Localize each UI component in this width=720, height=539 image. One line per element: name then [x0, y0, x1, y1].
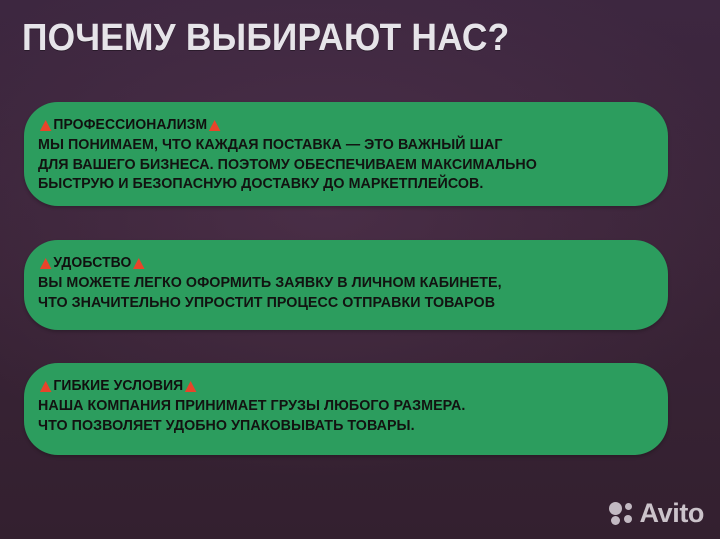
red-triangle-icon — [133, 258, 145, 269]
card-body-text: МЫ ПОНИМАЕМ, ЧТО КАЖДАЯ ПОСТАВКА — ЭТО В… — [38, 136, 632, 195]
red-triangle-icon — [40, 120, 52, 131]
red-triangle-icon — [40, 381, 52, 392]
avito-dots-icon — [609, 500, 636, 527]
page-title: ПОЧЕМУ ВЫБИРАЮТ НАС? — [22, 16, 654, 60]
benefit-card-professionalism: ПРОФЕССИОНАЛИЗМ МЫ ПОНИМАЕМ, ЧТО КАЖДАЯ … — [24, 102, 668, 206]
red-triangle-icon — [209, 120, 221, 131]
benefit-card-flexible-terms: ГИБКИЕ УСЛОВИЯ НАША КОМПАНИЯ ПРИНИМАЕТ Г… — [24, 363, 668, 455]
red-triangle-icon — [40, 258, 52, 269]
card-heading: ПРОФЕССИОНАЛИЗМ — [38, 116, 629, 134]
slide-canvas: ПОЧЕМУ ВЫБИРАЮТ НАС? ПРОФЕССИОНАЛИЗМ МЫ … — [0, 0, 720, 539]
card-heading: УДОБСТВО — [38, 254, 629, 272]
card-heading-label: ГИБКИЕ УСЛОВИЯ — [53, 377, 183, 395]
card-body-text: ВЫ МОЖЕТЕ ЛЕГКО ОФОРМИТЬ ЗАЯВКУ В ЛИЧНОМ… — [38, 274, 632, 313]
avito-wordmark: Avito — [640, 500, 705, 527]
avito-logo: Avito — [609, 500, 705, 527]
benefit-card-convenience: УДОБСТВО ВЫ МОЖЕТЕ ЛЕГКО ОФОРМИТЬ ЗАЯВКУ… — [24, 240, 668, 330]
card-body-text: НАША КОМПАНИЯ ПРИНИМАЕТ ГРУЗЫ ЛЮБОГО РАЗ… — [38, 397, 632, 436]
card-heading-label: УДОБСТВО — [53, 254, 131, 272]
card-heading-label: ПРОФЕССИОНАЛИЗМ — [53, 116, 207, 134]
card-heading: ГИБКИЕ УСЛОВИЯ — [38, 377, 629, 395]
red-triangle-icon — [185, 381, 197, 392]
